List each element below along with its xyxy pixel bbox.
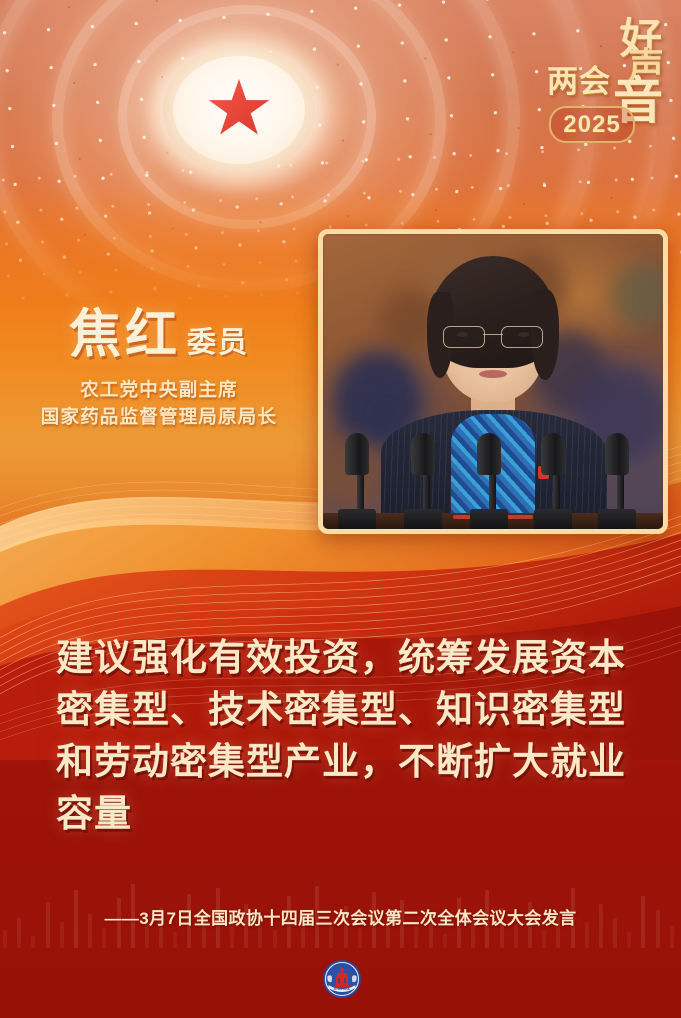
mic-stem [489, 475, 496, 509]
quote-line-1: 建议强化有效投资，统筹发展资本 [56, 632, 636, 684]
speaker-title-block: 农工党中央副主席 国家药品监督管理局原局长 [0, 376, 318, 430]
mic-stem [423, 475, 430, 509]
mic-capsule [605, 433, 629, 475]
program-logo: 两会 好 声 音 2025 [547, 18, 665, 146]
microphone-icon-4 [541, 433, 572, 529]
quote-block: 建议强化有效投资，统筹发展资本 密集型、技术密集型、知识密集型 和劳动密集型产业… [56, 632, 636, 840]
mic-capsule [477, 433, 501, 475]
speaker-info-block: 焦红 委员 农工党中央副主席 国家药品监督管理局原局长 [0, 306, 318, 430]
mic-base [534, 509, 572, 529]
portrait-eye-right [518, 332, 529, 337]
waveform-bar [173, 932, 177, 948]
xinhua-news-agency-emblem: XINHUA [322, 959, 362, 999]
speaker-portrait-frame [318, 229, 668, 534]
glasses-bridge [483, 334, 503, 335]
mic-base [470, 509, 508, 529]
mic-capsule [541, 433, 565, 475]
portrait-mouth [479, 370, 507, 378]
quote-line-3: 和劳动密集型产业，不断扩大就业 [56, 736, 636, 788]
mic-capsule [345, 433, 369, 475]
logo-text-lianghui: 两会 [547, 66, 611, 97]
glasses-lens-right [501, 326, 543, 348]
waveform-bar [443, 934, 447, 948]
mic-stem [617, 475, 624, 509]
microphone-icon-5 [605, 433, 636, 529]
speaker-name-line: 焦红 委员 [0, 306, 318, 364]
mic-base [598, 509, 636, 529]
logo-year-badge: 2025 [549, 106, 635, 143]
waveform-bar [273, 930, 277, 948]
mic-stem [357, 475, 364, 509]
speaker-title-line-1: 农工党中央副主席 [0, 376, 318, 403]
microphone-icon-2 [411, 433, 442, 529]
quote-line-2: 密集型、技术密集型、知识密集型 [56, 684, 636, 736]
speaker-portrait-photo [323, 234, 663, 529]
microphone-icon-1 [345, 433, 376, 529]
speaker-title-line-2: 国家药品监督管理局原局长 [0, 403, 318, 430]
red-star-icon [208, 79, 270, 139]
poster-root: 两会 好 声 音 2025 [0, 0, 681, 1018]
waveform-bar [627, 932, 631, 948]
speaker-role: 委员 [187, 326, 249, 360]
mic-base [338, 509, 376, 529]
microphone-icon-3 [477, 433, 508, 529]
mic-capsule [411, 433, 435, 475]
glasses-lens-left [443, 326, 485, 348]
portrait-eye-left [457, 332, 468, 337]
mic-base [404, 509, 442, 529]
waveform-bar [31, 936, 35, 948]
waveform-bar [3, 930, 7, 948]
mic-stem [553, 475, 560, 509]
speaker-name: 焦红 [69, 306, 181, 364]
source-caption: ——3月7日全国政协十四届三次会议第二次全体会议大会发言 [0, 906, 681, 932]
waveform-bar [542, 930, 546, 948]
svg-text:XINHUA: XINHUA [334, 987, 351, 991]
quote-line-4: 容量 [56, 788, 636, 840]
